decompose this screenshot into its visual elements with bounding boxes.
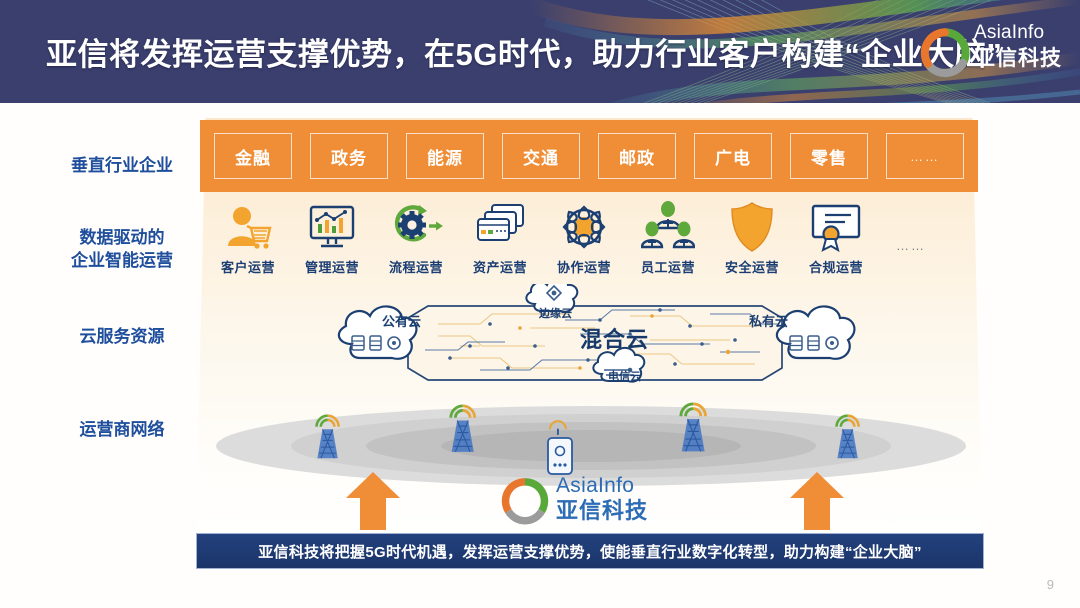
- asiainfo-ring-icon: [918, 26, 972, 80]
- operation-item-management[interactable]: 管理运营: [290, 200, 374, 276]
- cloud-label-telecom: 电信云: [608, 368, 641, 384]
- operation-item-asset[interactable]: 资产运营: [458, 200, 542, 276]
- industry-chip-government[interactable]: 政务: [310, 133, 388, 179]
- shield-icon: [710, 200, 794, 254]
- operation-label: 管理运营: [290, 257, 374, 276]
- center-logo-text: AsiaInfo 亚信科技: [556, 474, 648, 524]
- industry-chip-retail[interactable]: 零售: [790, 133, 868, 179]
- operation-item-compliance[interactable]: 合规运营: [794, 200, 878, 276]
- center-asiainfo-logo: AsiaInfo 亚信科技: [500, 474, 690, 528]
- rail-label-operator-network: 运营商网络: [42, 418, 202, 441]
- people-group-icon: [626, 200, 710, 254]
- industry-chip-broadcast[interactable]: 广电: [694, 133, 772, 179]
- small-cell-icon: [548, 438, 572, 474]
- rail-label-vertical-industry: 垂直行业企业: [42, 154, 202, 177]
- operation-label: 资产运营: [458, 257, 542, 276]
- rail-label-data-driven-operations: 数据驱动的 企业智能运营: [42, 226, 202, 272]
- operation-item-security[interactable]: 安全运营: [710, 200, 794, 276]
- gear-arrow-icon: [374, 200, 458, 254]
- page-number: 9: [1047, 577, 1054, 592]
- header-logo-text: AsiaInfo 亚信科技: [974, 22, 1066, 71]
- slide-header: 亚信将发挥运营支撑优势，在5G时代，助力行业客户构建“企业大脑” AsiaInf…: [0, 0, 1080, 103]
- operation-label: 协作运营: [542, 257, 626, 276]
- asiainfo-ring-icon: [500, 476, 550, 526]
- customer-cart-icon: [206, 200, 290, 254]
- brand-en: AsiaInfo: [974, 22, 1066, 44]
- industry-chip-transport[interactable]: 交通: [502, 133, 580, 179]
- cloud-zone: 公有云 私有云 边缘云 电信云 混合云: [330, 284, 860, 394]
- industry-chip-more[interactable]: ……: [886, 133, 964, 179]
- operation-label: 安全运营: [710, 257, 794, 276]
- cloud-label-public: 公有云: [382, 311, 421, 330]
- cloud-label-private: 私有云: [749, 311, 788, 330]
- brand-cn: 亚信科技: [556, 498, 648, 524]
- operation-label: 员工运营: [626, 257, 710, 276]
- up-arrow-right-icon: [788, 470, 846, 532]
- industry-chip-energy[interactable]: 能源: [406, 133, 484, 179]
- rail-label-cloud-resources: 云服务资源: [42, 325, 202, 348]
- rail-label-line1: 数据驱动的: [42, 226, 202, 249]
- brand-en: AsiaInfo: [556, 474, 648, 498]
- operation-item-collaboration[interactable]: 协作运营: [542, 200, 626, 276]
- page-title: 亚信将发挥运营支撑优势，在5G时代，助力行业客户构建“企业大脑”: [46, 32, 926, 78]
- bottom-banner: 亚信科技将把握5G时代机遇，发挥运营支撑优势，使能垂直行业数字化转型，助力构建“…: [196, 533, 984, 569]
- industry-chip-postal[interactable]: 邮政: [598, 133, 676, 179]
- operations-more-ellipsis: ……: [878, 200, 944, 253]
- cloud-label-hybrid: 混合云: [580, 322, 649, 354]
- bottom-banner-text: 亚信科技将把握5G时代机遇，发挥运营支撑优势，使能垂直行业数字化转型，助力构建“…: [258, 541, 922, 562]
- operation-label: 流程运营: [374, 257, 458, 276]
- industry-bar: 金融 政务 能源 交通 邮政 广电 零售 ……: [200, 120, 978, 192]
- up-arrow-left-icon: [344, 470, 402, 532]
- monitor-chart-icon: [290, 200, 374, 254]
- certificate-icon: [794, 200, 878, 254]
- rail-label-line2: 企业智能运营: [42, 249, 202, 272]
- header-logo: AsiaInfo 亚信科技: [916, 20, 1066, 86]
- operations-row: 客户运营 管理运营: [206, 200, 976, 284]
- cloud-label-edge: 边缘云: [539, 305, 572, 321]
- brand-cn: 亚信科技: [974, 46, 1066, 71]
- operation-item-employee[interactable]: 员工运营: [626, 200, 710, 276]
- operation-item-customer[interactable]: 客户运营: [206, 200, 290, 276]
- collaboration-circle-icon: [542, 200, 626, 254]
- operation-item-process[interactable]: 流程运营: [374, 200, 458, 276]
- operation-label: 合规运营: [794, 257, 878, 276]
- stacked-cards-icon: [458, 200, 542, 254]
- slide-canvas: 亚信将发挥运营支撑优势，在5G时代，助力行业客户构建“企业大脑” AsiaInf…: [0, 0, 1080, 608]
- operation-label: 客户运营: [206, 257, 290, 276]
- industry-chip-finance[interactable]: 金融: [214, 133, 292, 179]
